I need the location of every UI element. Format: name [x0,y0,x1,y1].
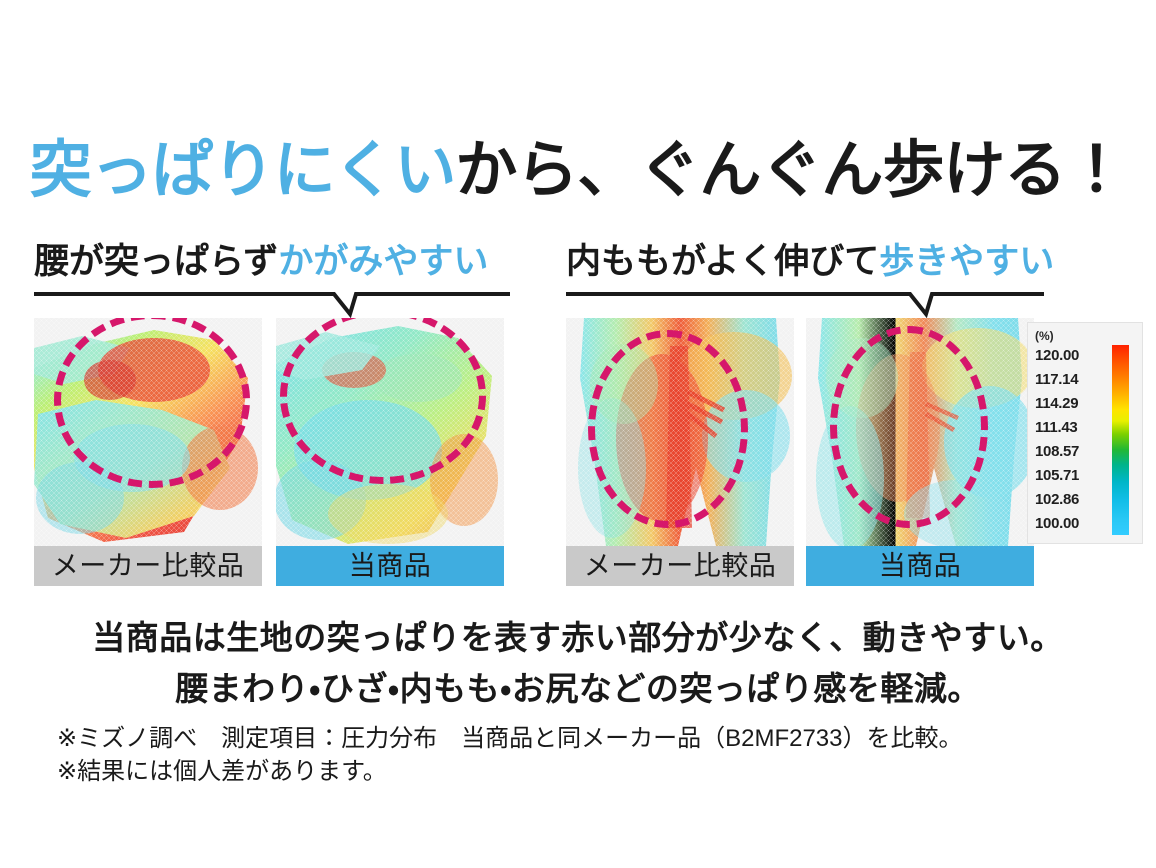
legend-colorbar-wrapper [1103,329,1138,537]
subtitle-inner-thigh-dark: 内ももがよく伸びて [566,242,879,281]
panel-waist-product: 当商品 [276,318,504,586]
panel-inner-thigh-competitor: メーカー比較品 [566,318,794,586]
comparison-group-waist-heading: 腰が突っぱらずかがみやすい [34,240,510,318]
legend-tick-2: 114.29 [1035,392,1103,416]
thermal-image-inner-thigh-product [806,318,1034,546]
subtitle-inner-thigh-underline [566,288,1044,318]
subtitle-waist: 腰が突っぱらずかがみやすい [34,240,510,284]
footnote-line-1: ※ミズノ調べ 測定項目：圧力分布 当商品と同メーカー品（B2MF2733）を比較… [57,722,1127,755]
subtitle-waist-underline [34,288,510,318]
panel-waist-competitor: メーカー比較品 [34,318,262,586]
headline-dark-text: から、ぐんぐん歩ける！ [455,136,1126,205]
legend-tick-3: 111.43 [1035,416,1103,440]
panel-caption-waist-competitor: メーカー比較品 [34,546,262,586]
panel-caption-waist-product: 当商品 [276,546,504,586]
advertisement-page: 突っぱりにくいから、ぐんぐん歩ける！ 腰が突っぱらずかがみやすい 内ももがよく伸… [0,0,1156,868]
subtitle-inner-thigh-accent: 歩きやすい [879,242,1054,281]
legend-tick-0: 120.00 [1035,344,1103,368]
legend-tick-1: 117.14 [1035,368,1103,392]
panel-caption-inner-thigh-competitor: メーカー比較品 [566,546,794,586]
thermal-image-waist-competitor [34,318,262,546]
legend-tick-5: 105.71 [1035,464,1103,488]
headline-accent-text: 突っぱりにくい [30,136,456,205]
pressure-color-legend: (%) 120.00 117.14 114.29 111.43 108.57 1… [1027,322,1143,544]
thermal-image-inner-thigh-competitor [566,318,794,546]
subtitle-waist-dark: 腰が突っぱらず [34,242,278,281]
subtitle-waist-accent: かがみやすい [278,242,488,281]
thermal-image-waist-product [276,318,504,546]
legend-unit-label: (%) [1035,329,1103,343]
panel-caption-inner-thigh-product: 当商品 [806,546,1034,586]
subtitle-row: 腰が突っぱらずかがみやすい 内ももがよく伸びて歩きやすい [0,240,1156,320]
page-headline: 突っぱりにくいから、ぐんぐん歩ける！ [0,140,1156,202]
footnote-line-2: ※結果には個人差があります。 [57,755,1127,788]
body-text-line-2: 腰まわり・ひざ・内もも・お尻などの突っぱり感を軽減。 [0,663,1156,714]
body-text-block: 当商品は生地の突っぱりを表す赤い部分が少なく、動きやすい。 腰まわり・ひざ・内も… [0,612,1156,714]
legend-tick-6: 102.86 [1035,488,1103,512]
body-text-line-1: 当商品は生地の突っぱりを表す赤い部分が少なく、動きやすい。 [0,612,1156,663]
subtitle-inner-thigh: 内ももがよく伸びて歩きやすい [566,240,1044,284]
legend-tick-4: 108.57 [1035,440,1103,464]
footnote-block: ※ミズノ調べ 測定項目：圧力分布 当商品と同メーカー品（B2MF2733）を比較… [57,722,1127,788]
comparison-group-inner-thigh-heading: 内ももがよく伸びて歩きやすい [566,240,1044,318]
legend-colorbar [1112,345,1129,535]
legend-tick-labels: (%) 120.00 117.14 114.29 111.43 108.57 1… [1035,329,1103,537]
legend-tick-7: 100.00 [1035,512,1103,536]
panel-inner-thigh-product: 当商品 [806,318,1034,586]
comparison-panels: メーカー比較品 [0,318,1156,598]
